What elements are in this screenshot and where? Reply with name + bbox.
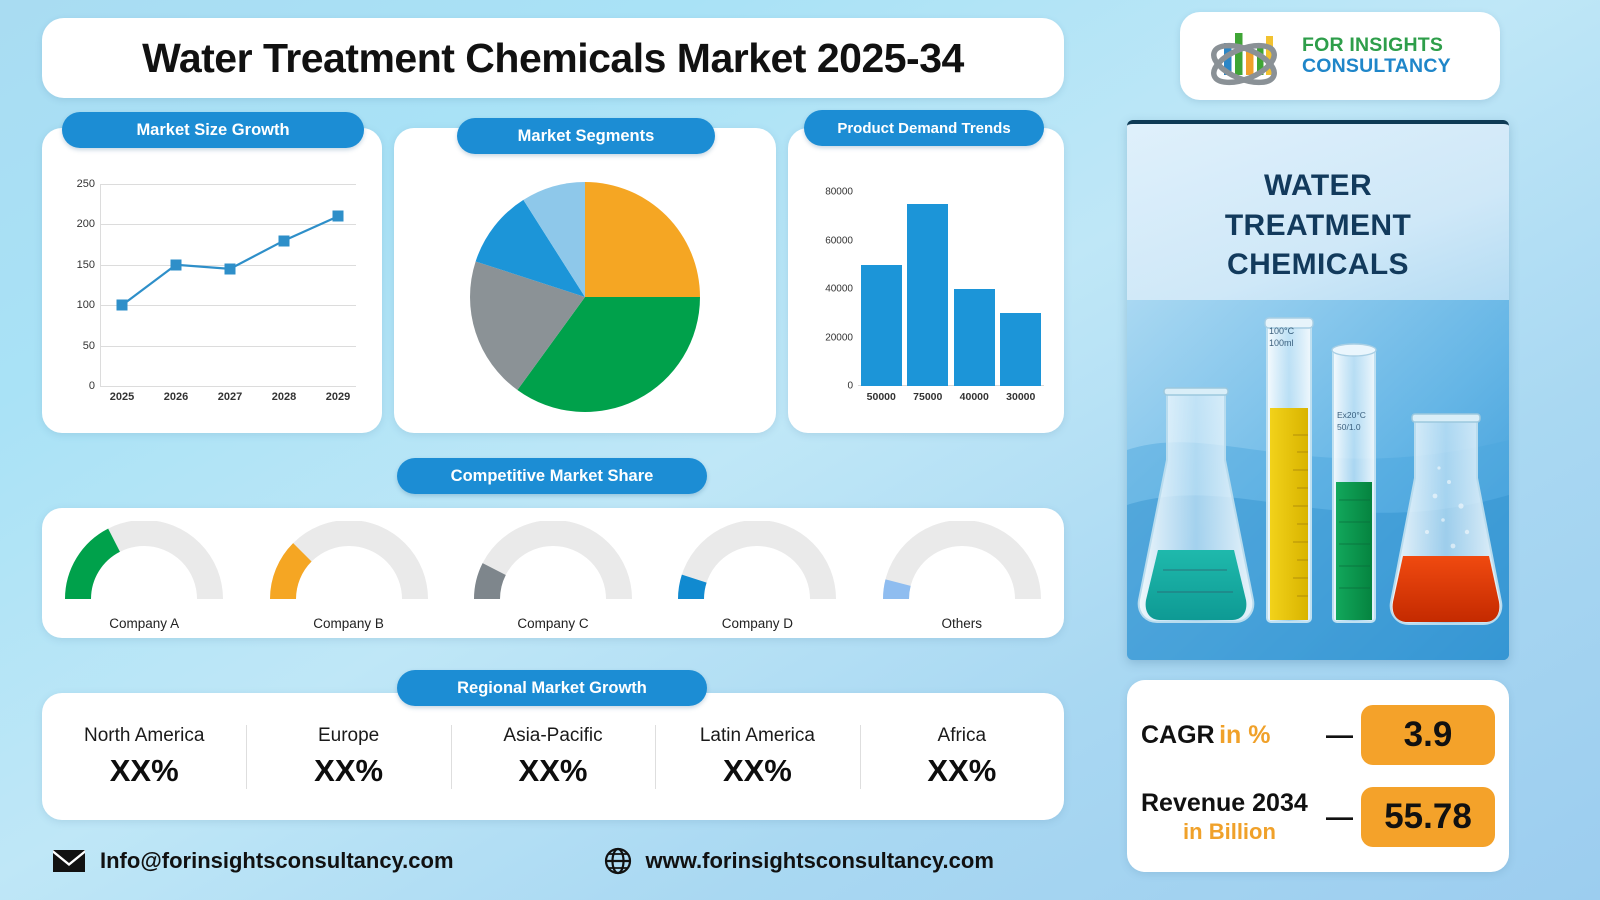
line-chart-marker [225,263,236,274]
line-chart: 05010015020025020252026202720282029 [60,176,364,416]
stat-row-revenue: Revenue 2034 in Billion — 55.78 [1127,776,1509,858]
infographic-root: Water Treatment Chemicals Market 2025-34… [0,0,1600,900]
gauge-value-arc [896,583,898,599]
stat-row-cagr: CAGR in % — 3.9 [1127,694,1509,776]
footer-website-text: www.forinsightsconsultancy.com [646,848,994,874]
panel-title-competitive-share: Competitive Market Share [397,458,707,494]
region-name: Latin America [659,725,855,747]
bar-chart-bar [907,204,948,386]
gauge-dial [672,521,842,609]
line-chart-y-tick: 100 [77,299,95,311]
bar-chart-x-tick: 40000 [960,391,989,403]
region-value: XX% [46,753,242,789]
cylinder-yellow: 100°C100ml [1265,318,1313,622]
region-list: North AmericaXX%EuropeXX%Asia-PacificXX%… [42,693,1064,820]
line-chart-x-tick: 2028 [272,391,296,403]
gauge-track [487,533,619,599]
gauge-label: Company B [313,616,384,631]
page-title: Water Treatment Chemicals Market 2025-34 [142,35,964,82]
bar-chart-y-tick: 40000 [825,284,853,295]
line-chart-y-tick: 50 [83,340,95,352]
company-logo-card[interactable]: FOR INSIGHTS CONSULTANCY [1180,12,1500,100]
svg-text:100°C: 100°C [1269,326,1295,336]
hero-title: WATER TREATMENT CHEMICALS [1127,166,1509,285]
envelope-icon [52,849,86,873]
key-stats-card: CAGR in % — 3.9 Revenue 2034 in Billion … [1127,680,1509,872]
right-column: FOR INSIGHTS CONSULTANCY WATER TREATMENT… [1122,8,1542,888]
region-item: North AmericaXX% [42,717,246,797]
bar-chart-y-tick: 0 [847,381,853,392]
hero-title-line-3: CHEMICALS [1127,245,1509,285]
gauge-dial [468,521,638,609]
stat-label-revenue: Revenue 2034 in Billion [1141,789,1318,845]
gauge-dial [877,521,1047,609]
bar-chart-bar [954,289,995,386]
stat-cagr-value: 3.9 [1361,705,1495,765]
panel-title-market-size: Market Size Growth [62,112,364,148]
gauge-value-arc [283,552,302,599]
stat-revenue-sub: in Billion [1141,819,1318,845]
svg-text:100ml: 100ml [1269,338,1294,348]
gauge-value-arc [78,540,114,599]
bar-chart-y-tick: 80000 [825,187,853,198]
stat-cagr-accent: in % [1219,721,1270,749]
stat-revenue-value: 55.78 [1361,787,1495,847]
logo-text: FOR INSIGHTS CONSULTANCY [1302,35,1451,77]
laboratory-glassware-illustration: 100°C100ml Ex20°C50/1.0 [1127,300,1509,660]
region-name: Africa [864,725,1060,747]
line-chart-x-tick: 2027 [218,391,242,403]
line-chart-x-tick: 2025 [110,391,134,403]
bar-chart-x-tick: 50000 [867,391,896,403]
stat-revenue-main: Revenue 2034 [1141,789,1308,817]
gauge-value-arc [691,579,694,599]
line-chart-marker [279,235,290,246]
gauge-track [896,533,1028,599]
competitive-market-share-card: Company ACompany BCompany CCompany DOthe… [42,508,1064,638]
region-value: XX% [659,753,855,789]
panel-title-market-segments: Market Segments [457,118,715,154]
footer-website[interactable]: www.forinsightsconsultancy.com [604,847,994,875]
line-chart-marker [333,211,344,222]
footer-email-text: Info@forinsightsconsultancy.com [100,848,454,874]
hero-title-line-2: TREATMENT [1127,206,1509,246]
logo-line-2: CONSULTANCY [1302,56,1451,77]
bar-chart-plot: 0200004000060000800005000075000400003000… [858,192,1044,386]
stat-cagr-main: CAGR [1141,721,1215,749]
cylinder-green: Ex20°C50/1.0 [1332,344,1376,622]
bar-chart: 0200004000060000800005000075000400003000… [802,186,1050,416]
stat-label-cagr: CAGR in % [1141,721,1318,750]
line-chart-y-tick: 250 [77,178,95,190]
line-chart-x-tick: 2029 [326,391,350,403]
hero-title-line-1: WATER [1127,166,1509,206]
gauge-dial [59,521,229,609]
line-chart-marker [117,300,128,311]
stat-revenue-dash: — [1326,802,1353,833]
line-chart-y-tick: 150 [77,259,95,271]
market-size-growth-card: 05010015020025020252026202720282029 [42,128,382,433]
bar-chart-bar [1000,313,1041,386]
bar-chart-x-tick: 75000 [913,391,942,403]
gauge-track [691,533,823,599]
line-chart-x-tick: 2026 [164,391,188,403]
gauge-item: Company B [259,521,439,631]
region-name: Europe [250,725,446,747]
svg-text:Ex20°C: Ex20°C [1337,410,1366,420]
hero-image-panel: WATER TREATMENT CHEMICALS [1127,120,1509,660]
regional-market-growth-card: North AmericaXX%EuropeXX%Asia-PacificXX%… [42,693,1064,820]
line-chart-marker [171,259,182,270]
logo-line-1: FOR INSIGHTS [1302,35,1451,56]
pie-chart-svg [468,180,702,414]
gauge-label: Company A [109,616,179,631]
line-chart-y-tick: 200 [77,218,95,230]
region-name: Asia-Pacific [455,725,651,747]
product-demand-card: 0200004000060000800005000075000400003000… [788,128,1064,433]
svg-text:50/1.0: 50/1.0 [1337,422,1361,432]
panel-title-product-demand: Product Demand Trends [804,110,1044,146]
line-chart-gridline [100,386,356,387]
line-chart-plot: 05010015020025020252026202720282029 [100,184,356,386]
bar-chart-y-tick: 60000 [825,235,853,246]
region-value: XX% [864,753,1060,789]
region-value: XX% [250,753,446,789]
gauge-label: Others [941,616,982,631]
gauge-item: Company A [54,521,234,631]
gauge-dial [264,521,434,609]
footer-email[interactable]: Info@forinsightsconsultancy.com [52,848,454,874]
gauge-label: Company C [517,616,588,631]
market-segments-card [394,128,776,433]
line-chart-y-tick: 0 [89,380,95,392]
gauge-item: Company C [463,521,643,631]
panel-title-regional-growth: Regional Market Growth [397,670,707,706]
pie-slice [585,182,700,297]
region-item: Latin AmericaXX% [655,717,859,797]
footer: Info@forinsightsconsultancy.com www.fori… [42,836,1064,886]
stat-cagr-dash: — [1326,720,1353,751]
bar-chart-swoosh-logo-icon [1196,23,1292,89]
gauge-value-arc [487,569,494,599]
page-title-card: Water Treatment Chemicals Market 2025-34 [42,18,1064,98]
region-name: North America [46,725,242,747]
line-chart-series [100,184,356,386]
gauge-item: Company D [667,521,847,631]
region-item: Asia-PacificXX% [451,717,655,797]
bar-chart-bar [861,265,902,386]
gauge-list: Company ACompany BCompany CCompany DOthe… [42,508,1064,638]
region-item: AfricaXX% [860,717,1064,797]
bar-chart-y-tick: 20000 [825,332,853,343]
left-column: Water Treatment Chemicals Market 2025-34… [42,18,1074,886]
gauge-item: Others [872,521,1052,631]
pie-chart [468,180,702,414]
globe-icon [604,847,632,875]
region-value: XX% [455,753,651,789]
bar-chart-x-tick: 30000 [1006,391,1035,403]
gauge-label: Company D [722,616,793,631]
region-item: EuropeXX% [246,717,450,797]
